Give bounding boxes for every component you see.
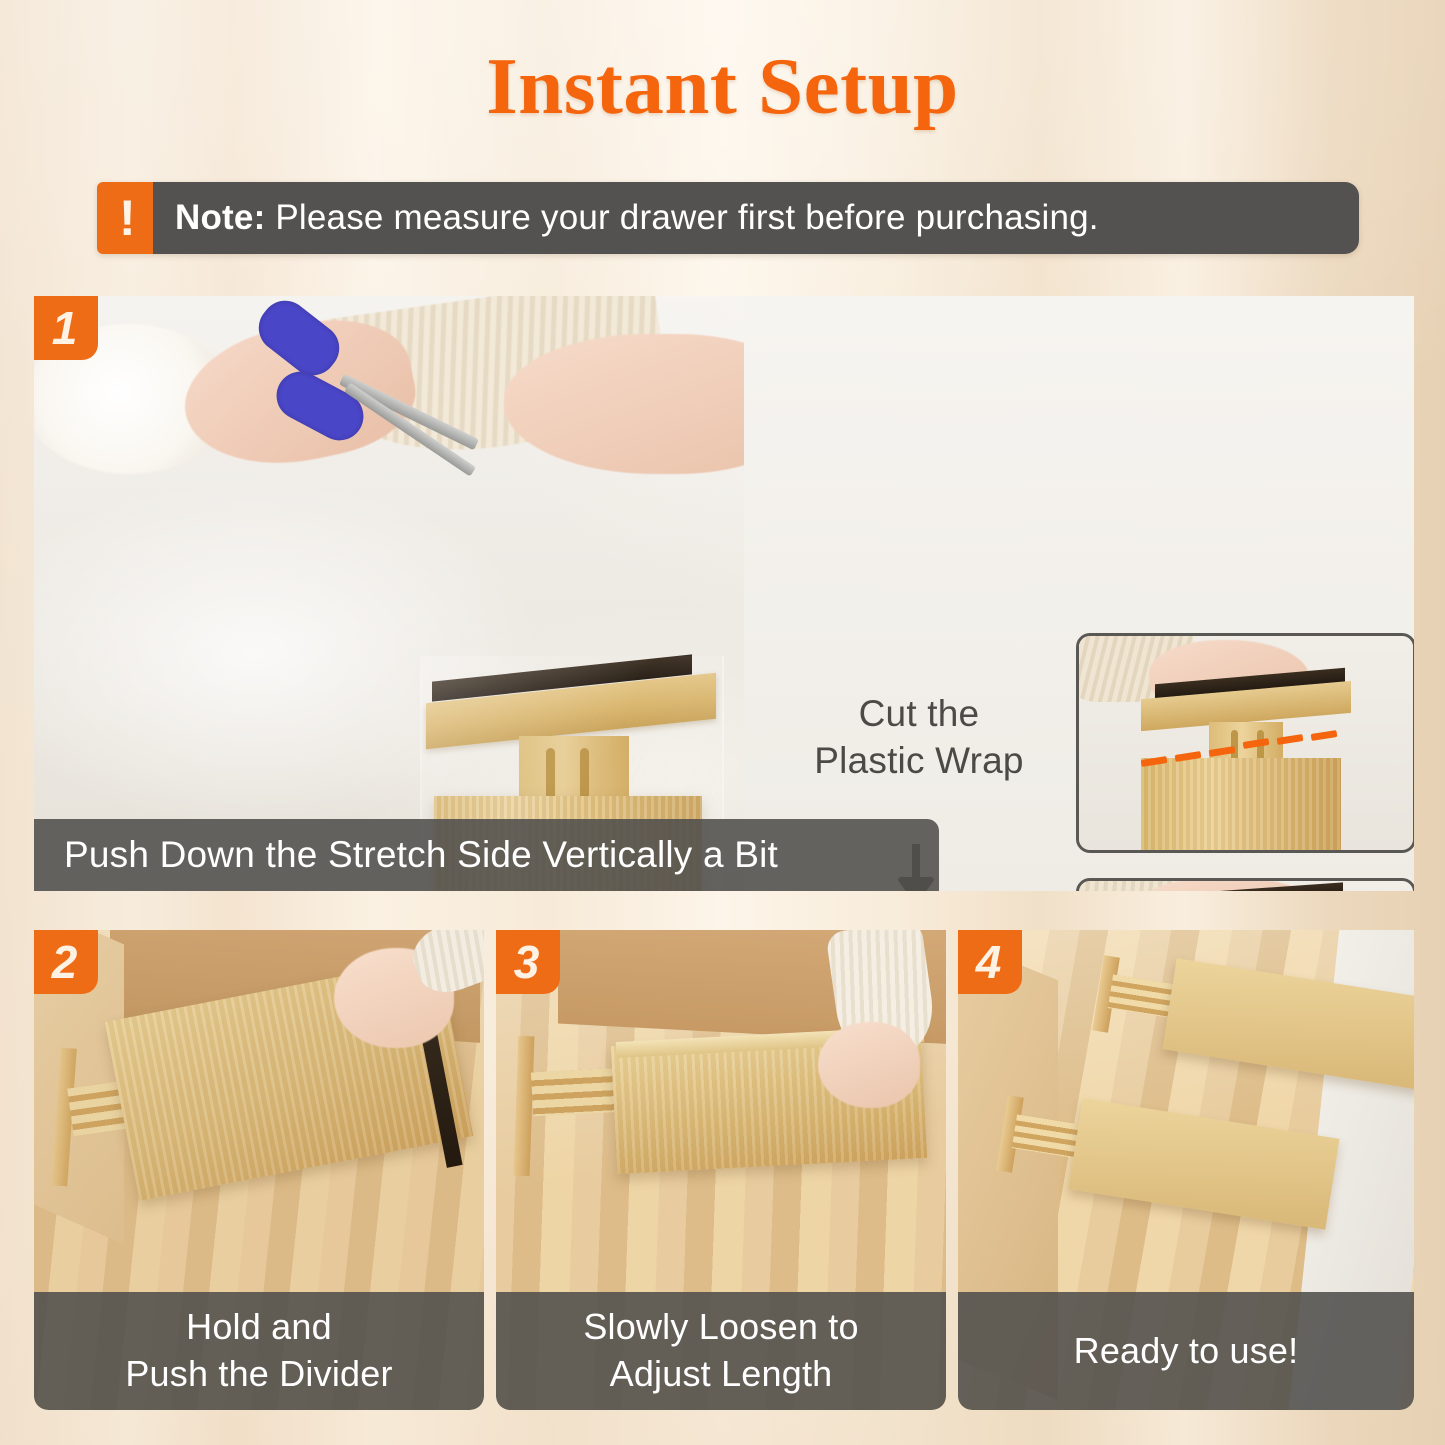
release-inset (1076, 878, 1414, 891)
exclamation-glyph: ! (119, 193, 131, 243)
note-message: Please measure your drawer first before … (265, 198, 1098, 237)
hand (818, 1022, 920, 1108)
page-title: Instant Setup (0, 40, 1445, 133)
push-down-inset (1076, 633, 1414, 853)
note-label: Note: (175, 198, 265, 237)
infographic-canvas: Instant Setup ! Note: Please measure you… (0, 0, 1445, 1445)
step-2-panel: 2 Hold and Push the Divider (34, 930, 484, 1410)
note-banner: ! Note: Please measure your drawer first… (97, 182, 1359, 254)
step-4-panel: 4 Ready to use! (958, 930, 1414, 1410)
step-4-badge: 4 (958, 930, 1022, 994)
step-3-badge: 3 (496, 930, 560, 994)
exclamation-icon: ! (97, 182, 153, 254)
inset-divider-panel (1141, 758, 1341, 853)
step-1-panel: 1 Cut the Plastic Wrap Release the Stret… (34, 296, 1414, 891)
note-text: Note: Please measure your drawer first b… (175, 198, 1099, 238)
step-3-caption: Slowly Loosen to Adjust Length (496, 1292, 946, 1410)
step-2-caption: Hold and Push the Divider (34, 1292, 484, 1410)
step-1-label-cut: Cut the Plastic Wrap (779, 691, 1059, 784)
note-body: Note: Please measure your drawer first b… (153, 182, 1359, 254)
step-4-caption: Ready to use! (958, 1292, 1414, 1410)
step-1-badge: 1 (34, 296, 98, 360)
step-1-caption: Push Down the Stretch Side Vertically a … (34, 819, 939, 891)
step-2-badge: 2 (34, 930, 98, 994)
step-3-panel: 3 Slowly Loosen to Adjust Length (496, 930, 946, 1410)
divider-rails (531, 1068, 625, 1117)
